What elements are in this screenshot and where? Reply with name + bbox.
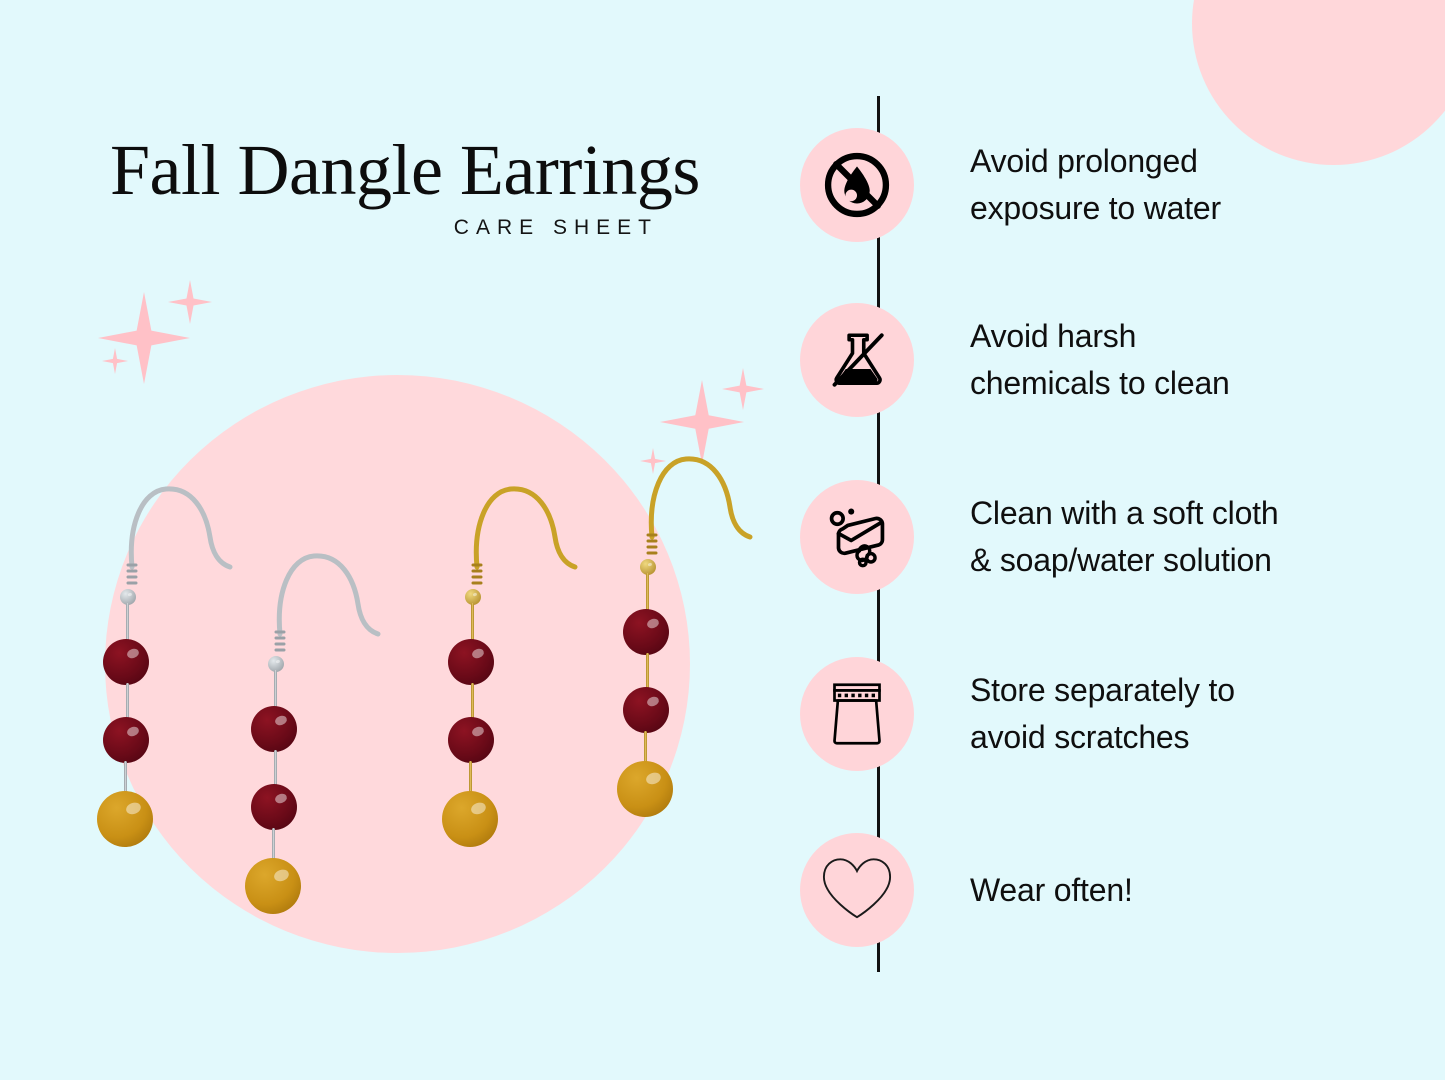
- care-item-line1: Avoid harsh: [970, 313, 1230, 360]
- heart-icon: [818, 854, 896, 926]
- care-item-text: Store separately to avoid scratches: [970, 667, 1235, 761]
- care-item-line1: Clean with a soft cloth: [970, 490, 1278, 537]
- sparkle-icon: [722, 368, 764, 410]
- soap-bar-icon: [820, 500, 894, 574]
- bead-ball: [617, 761, 673, 817]
- care-item-line2: & soap/water solution: [970, 537, 1278, 584]
- care-item-4: Store separately to avoid scratches: [800, 657, 1445, 771]
- earring-3: [463, 475, 593, 600]
- ear-hook-silver-icon: [118, 475, 248, 595]
- page-title: Fall Dangle Earrings: [110, 134, 770, 206]
- care-item-line2: avoid scratches: [970, 714, 1235, 761]
- no-water-icon: [820, 148, 894, 222]
- care-item-text: Clean with a soft cloth & soap/water sol…: [970, 490, 1278, 584]
- care-icon-badge: [800, 303, 914, 417]
- earring-2: [266, 542, 396, 667]
- bead-ball: [448, 639, 494, 685]
- care-item-5: Wear often!: [800, 833, 1445, 947]
- ear-hook-gold-icon: [638, 445, 768, 565]
- care-item-3: Clean with a soft cloth & soap/water sol…: [800, 480, 1445, 594]
- care-instructions-list: Avoid prolonged exposure to water Avoid …: [800, 0, 1445, 1080]
- care-item-text: Avoid prolonged exposure to water: [970, 138, 1221, 232]
- care-item-line1: Store separately to: [970, 667, 1235, 714]
- bead-ball: [442, 791, 498, 847]
- bead-ball: [103, 639, 149, 685]
- care-icon-badge: [800, 657, 914, 771]
- sparkle-icon: [102, 348, 128, 374]
- care-item-line1: Avoid prolonged: [970, 138, 1221, 185]
- care-icon-badge: [800, 480, 914, 594]
- care-sheet-canvas: Fall Dangle Earrings CARE SHEET: [0, 0, 1445, 1080]
- bead-ball: [97, 791, 153, 847]
- storage-pouch-icon: [824, 678, 890, 750]
- bead-ball: [623, 687, 669, 733]
- product-photo: [60, 270, 780, 1000]
- no-chemicals-flask-icon: [821, 324, 893, 396]
- bead-ball: [251, 706, 297, 752]
- bead-ball: [623, 609, 669, 655]
- bead-ball: [448, 717, 494, 763]
- care-icon-badge: [800, 833, 914, 947]
- bead-ball: [103, 717, 149, 763]
- sparkle-icon: [168, 280, 212, 324]
- earring-4: [638, 445, 768, 570]
- photo-background-circle: [105, 375, 690, 953]
- care-icon-badge: [800, 128, 914, 242]
- care-item-text: Avoid harsh chemicals to clean: [970, 313, 1230, 407]
- header-block: Fall Dangle Earrings CARE SHEET: [110, 134, 770, 240]
- care-item-line2: chemicals to clean: [970, 360, 1230, 407]
- ear-hook-silver-icon: [266, 542, 396, 662]
- earring-1: [118, 475, 248, 600]
- ear-hook-gold-icon: [463, 475, 593, 595]
- care-item-text: Wear often!: [970, 867, 1133, 914]
- care-item-2: Avoid harsh chemicals to clean: [800, 303, 1445, 417]
- bead-ball: [251, 784, 297, 830]
- page-subtitle: CARE SHEET: [110, 216, 770, 240]
- care-item-1: Avoid prolonged exposure to water: [800, 128, 1445, 242]
- care-item-line1: Wear often!: [970, 867, 1133, 914]
- bead-ball: [245, 858, 301, 914]
- care-item-line2: exposure to water: [970, 185, 1221, 232]
